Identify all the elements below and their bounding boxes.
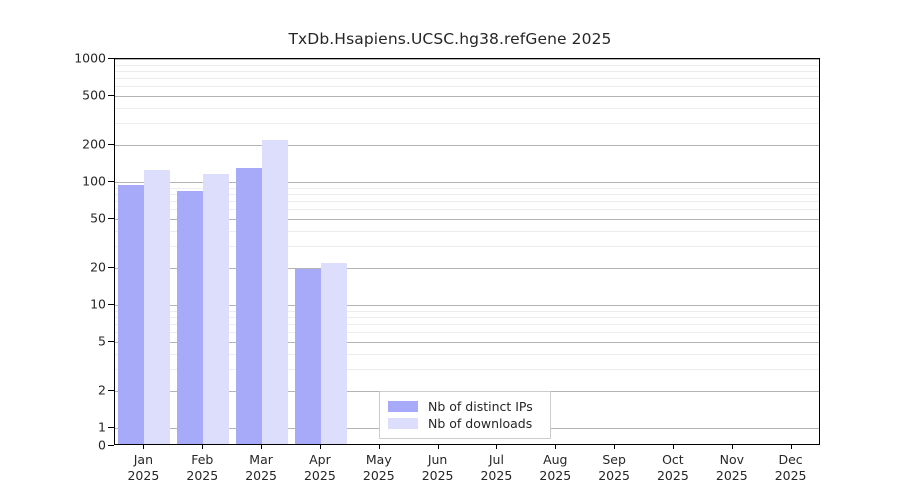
y-tick-label: 50 [46, 211, 106, 226]
y-tick-label: 100 [46, 174, 106, 189]
chart-legend[interactable]: Nb of distinct IPs Nb of downloads [379, 391, 551, 439]
x-tick-mark [320, 445, 321, 449]
y-tick-mark [108, 445, 114, 446]
gridline-minor [115, 65, 819, 66]
legend-label-downloads: Nb of downloads [428, 416, 532, 431]
y-tick-label: 1 [46, 420, 106, 435]
legend-swatch-icon-ips [388, 401, 418, 412]
bar-feb-downloads [203, 174, 229, 445]
gridline-minor [115, 71, 819, 72]
x-tick-mark [673, 445, 674, 449]
x-tick-mark [143, 445, 144, 449]
chart-figure: TxDb.Hsapiens.UCSC.hg38.refGene 2025 012… [0, 0, 900, 500]
y-tick-label: 1000 [46, 51, 106, 66]
bar-mar-ips [236, 168, 262, 444]
legend-label-ips: Nb of distinct IPs [428, 399, 533, 414]
gridline-major [115, 96, 819, 97]
gridline-minor [115, 123, 819, 124]
bar-apr-ips [295, 269, 321, 444]
x-tick-mark [438, 445, 439, 449]
x-tick-mark [261, 445, 262, 449]
bar-feb-ips [177, 191, 203, 444]
chart-title: TxDb.Hsapiens.UCSC.hg38.refGene 2025 [0, 30, 900, 48]
bar-apr-downloads [321, 263, 347, 444]
x-tick-mark [202, 445, 203, 449]
gridline-minor [115, 78, 819, 79]
bar-jan-downloads [144, 170, 170, 444]
x-tick-month: Dec [756, 452, 826, 468]
legend-item-1: Nb of downloads [388, 415, 542, 432]
legend-item-0: Nb of distinct IPs [388, 398, 542, 415]
gridline-major [115, 145, 819, 146]
bar-jan-ips [118, 185, 144, 445]
x-tick-mark [732, 445, 733, 449]
gridline-minor [115, 86, 819, 87]
gridline-minor [115, 108, 819, 109]
x-tick-year: 2025 [756, 468, 826, 484]
legend-swatch-icon-downloads [388, 418, 418, 429]
y-tick-label: 10 [46, 297, 106, 312]
bar-mar-downloads [262, 140, 288, 444]
x-tick-mark [379, 445, 380, 449]
x-tick-mark [555, 445, 556, 449]
plot-area [114, 58, 820, 445]
x-tick-label-dec: Dec2025 [756, 452, 826, 483]
y-tick-label: 0 [46, 438, 106, 453]
x-tick-mark [791, 445, 792, 449]
y-tick-label: 200 [46, 137, 106, 152]
x-tick-mark [496, 445, 497, 449]
y-tick-label: 5 [46, 334, 106, 349]
y-tick-label: 500 [46, 88, 106, 103]
gridline-major [115, 59, 819, 60]
y-tick-label: 2 [46, 383, 106, 398]
x-tick-mark [614, 445, 615, 449]
y-tick-label: 20 [46, 260, 106, 275]
